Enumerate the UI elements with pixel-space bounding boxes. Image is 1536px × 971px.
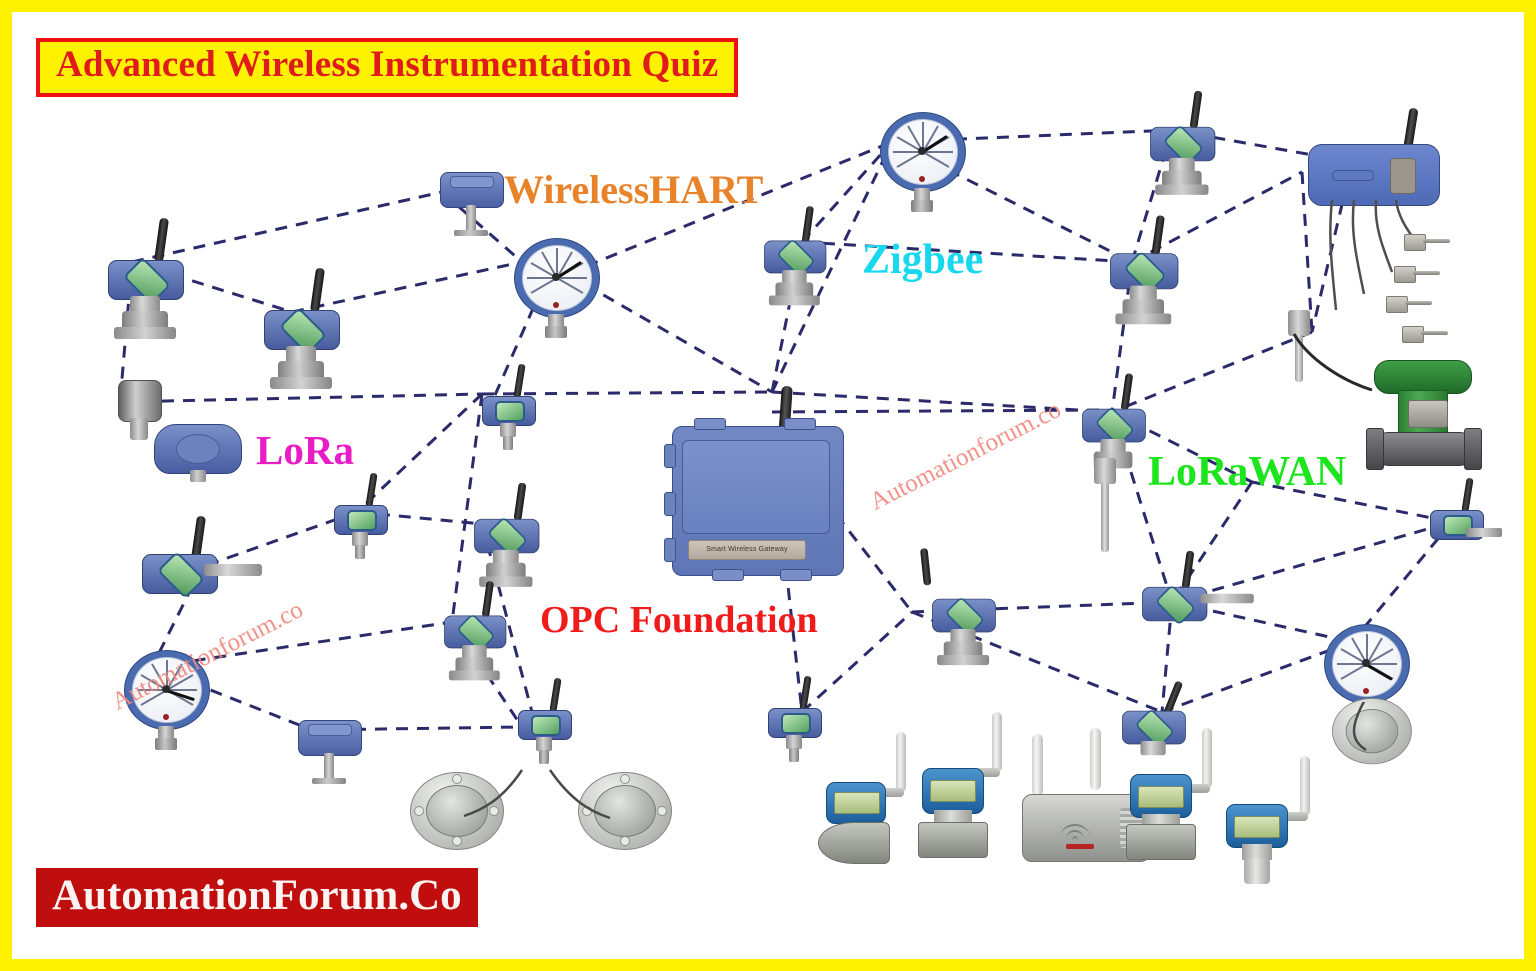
- adapter-probe[interactable]: [1404, 234, 1450, 249]
- gateway-mount-ear: [664, 492, 676, 516]
- gauge-hub: [1362, 659, 1370, 667]
- lcd-display: [930, 780, 976, 802]
- square-head-device[interactable]: [440, 172, 502, 234]
- transmitter-neck: [204, 564, 262, 576]
- gauge-nut: [545, 326, 567, 338]
- page-frame: Smart Wireless Gateway: [0, 0, 1536, 971]
- probe-rod: [1101, 482, 1109, 552]
- wireless-transmitter[interactable]: [1110, 246, 1177, 323]
- gateway-mount-ear: [664, 444, 676, 468]
- protocol-label-lora: LoRa: [256, 426, 354, 474]
- wifi-icon: [1060, 818, 1094, 840]
- process-flange: [769, 296, 820, 306]
- gateway-tab: [780, 569, 812, 581]
- valve-flange: [1366, 428, 1384, 470]
- gateway-panel: [682, 440, 830, 534]
- manifold-body: [918, 822, 988, 858]
- gateway-tab: [694, 418, 726, 430]
- wireless-transmitter[interactable]: [1142, 580, 1206, 654]
- device-foot: [312, 778, 346, 784]
- device-cap: [308, 724, 352, 736]
- sensor-stem: [130, 418, 148, 440]
- valve-flange: [1464, 428, 1482, 470]
- lcd-display: [1234, 816, 1280, 838]
- transmitter-stem: [1466, 528, 1502, 537]
- pressure-gauge[interactable]: [880, 112, 964, 216]
- probe-head: [1094, 458, 1116, 484]
- transmitter-neck: [1200, 594, 1253, 603]
- sensor-cylinder: [118, 380, 162, 422]
- valve-body: [1374, 432, 1474, 466]
- device-foot: [454, 230, 488, 236]
- gateway-label: Smart Wireless Gateway: [688, 540, 806, 560]
- field-housing[interactable]: [154, 424, 240, 482]
- wireless-transmitter[interactable]: [1430, 504, 1482, 566]
- wireless-transmitter[interactable]: [334, 499, 386, 561]
- wireless-transmitter[interactable]: [264, 302, 338, 388]
- process-connection: [355, 545, 365, 559]
- site-logo[interactable]: AutomationForum.Co: [36, 868, 478, 927]
- wireless-transmitter[interactable]: [1150, 120, 1214, 194]
- adapter-probe[interactable]: [1402, 326, 1448, 341]
- wireless-transmitter[interactable]: [768, 702, 820, 764]
- transmitter-stem: [352, 532, 368, 546]
- adapter-probe[interactable]: [1386, 296, 1432, 311]
- smart-wireless-gateway[interactable]: Smart Wireless Gateway: [672, 426, 842, 574]
- process-flange: [449, 671, 500, 681]
- display-lens: [347, 510, 377, 531]
- process-connection: [789, 748, 799, 762]
- gauge-hub: [552, 273, 560, 281]
- transmitter-stem: [500, 423, 516, 437]
- seal-capillary-lines: [1332, 702, 1422, 772]
- pressure-gauge[interactable]: [514, 238, 598, 342]
- valve-positioner: [1408, 400, 1448, 428]
- device-cap: [450, 176, 494, 188]
- adapter-terminal-cover: [1390, 158, 1416, 194]
- protocol-label-lorawan: LoRaWAN: [1148, 448, 1346, 496]
- process-flange: [1115, 314, 1171, 325]
- honeywell-transmitter[interactable]: [1124, 756, 1220, 874]
- honeywell-transmitter[interactable]: [916, 754, 1012, 872]
- adapter-enclosure: [1308, 144, 1440, 206]
- page-title: Advanced Wireless Instrumentation Quiz: [56, 44, 718, 85]
- transmitter-stem: [536, 737, 552, 751]
- lcd-display: [834, 792, 880, 814]
- square-head-device[interactable]: [298, 720, 360, 782]
- wireless-transmitter[interactable]: [474, 512, 538, 586]
- device-stem: [324, 753, 334, 781]
- gauge-nut: [911, 200, 933, 212]
- gateway-tab: [712, 569, 744, 581]
- seal-capillary-lines: [402, 760, 692, 860]
- gateway-mount-ear: [664, 538, 676, 562]
- process-flange: [270, 377, 332, 389]
- gateway-tab: [784, 418, 816, 430]
- manifold-body: [1126, 824, 1196, 860]
- process-flange: [114, 327, 176, 339]
- protocol-label-wirelesshart: WirelessHART: [504, 166, 763, 213]
- antenna-icon: [992, 712, 1002, 772]
- manifold-body: [818, 822, 890, 864]
- diagram-canvas: Smart Wireless Gateway: [12, 12, 1524, 959]
- housing-tap: [190, 470, 206, 482]
- honeywell-transmitter[interactable]: [818, 760, 914, 878]
- valve-actuator: [1374, 360, 1472, 394]
- process-flange: [937, 655, 989, 665]
- transmitter-neck: [1140, 741, 1165, 755]
- antenna-icon: [1202, 728, 1212, 788]
- process-connection: [1244, 858, 1270, 884]
- adapter-probe[interactable]: [1394, 266, 1440, 281]
- housing-cover: [176, 434, 220, 464]
- wireless-transmitter[interactable]: [108, 252, 182, 338]
- wireless-transmitter[interactable]: [764, 234, 825, 305]
- antenna-icon: [1300, 756, 1310, 816]
- site-logo-text: AutomationForum.Co: [52, 872, 462, 919]
- valve-signal-cable: [1288, 330, 1388, 410]
- antenna-icon: [896, 732, 906, 792]
- antenna-icon: [1090, 728, 1101, 790]
- display-lens: [531, 715, 561, 736]
- process-flange: [1155, 185, 1208, 195]
- wireless-adapter[interactable]: [1308, 144, 1438, 204]
- gauge-nut: [155, 738, 177, 750]
- lcd-display: [1138, 786, 1184, 808]
- wireless-transmitter[interactable]: [482, 390, 534, 452]
- honeywell-transmitter[interactable]: [1220, 790, 1316, 908]
- adapter-slot: [1332, 170, 1374, 181]
- page-title-banner: Advanced Wireless Instrumentation Quiz: [36, 38, 738, 97]
- protocol-label-zigbee: Zigbee: [862, 236, 983, 284]
- gauge-hub: [918, 147, 926, 155]
- display-lens: [495, 401, 525, 422]
- wireless-transmitter[interactable]: [444, 609, 505, 680]
- device-stem: [466, 205, 476, 233]
- transmitter-stem: [786, 735, 802, 749]
- temperature-transmitter[interactable]: [142, 546, 216, 632]
- wireless-transmitter[interactable]: [932, 592, 994, 664]
- wireless-transmitter[interactable]: [518, 704, 570, 766]
- antenna-icon: [1032, 734, 1043, 796]
- display-lens: [781, 713, 811, 734]
- protocol-label-opc-foundation: OPC Foundation: [540, 598, 818, 642]
- brand-mark: [1066, 844, 1094, 849]
- process-connection: [503, 436, 513, 450]
- level-probe[interactable]: [1092, 458, 1118, 554]
